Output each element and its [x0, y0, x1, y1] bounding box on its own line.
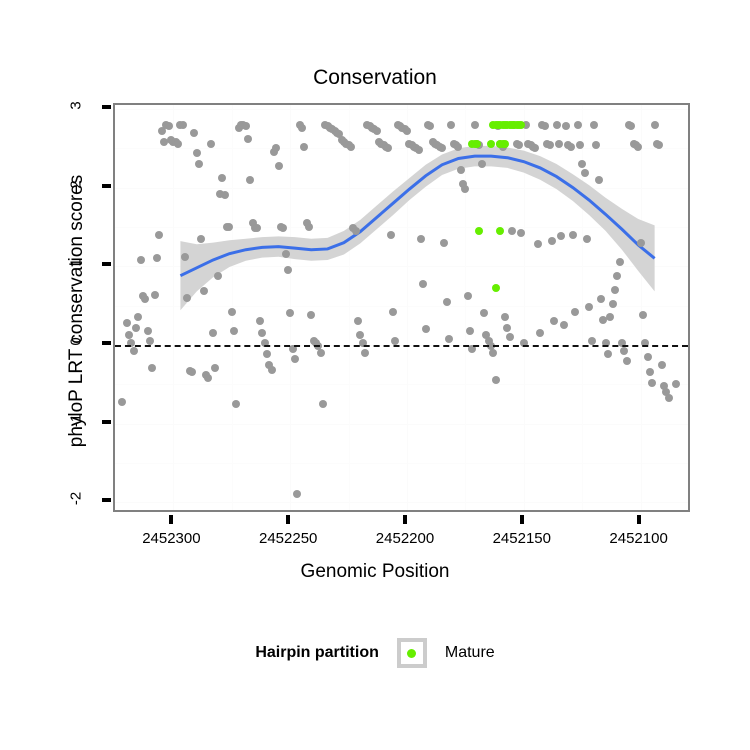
scatter-point-other: [672, 380, 680, 388]
scatter-point-other: [634, 143, 642, 151]
scatter-point-other: [648, 379, 656, 387]
scatter-point-other: [190, 129, 198, 137]
scatter-point-other: [574, 121, 582, 129]
y-tick-mark: [102, 105, 111, 109]
y-tick-label: 3: [68, 85, 85, 125]
scatter-point-other: [478, 160, 486, 168]
scatter-point-other: [130, 347, 138, 355]
scatter-point-other: [298, 124, 306, 132]
scatter-point-other: [609, 300, 617, 308]
scatter-point-other: [403, 127, 411, 135]
scatter-point-other: [373, 127, 381, 135]
x-tick-mark: [169, 515, 173, 524]
scatter-point-other: [419, 280, 427, 288]
legend: Hairpin partition Mature: [0, 638, 750, 668]
scatter-point-other: [457, 166, 465, 174]
x-tick-mark: [403, 515, 407, 524]
scatter-point-other: [534, 240, 542, 248]
scatter-point-other: [361, 349, 369, 357]
x-tick-mark: [520, 515, 524, 524]
scatter-point-other: [581, 169, 589, 177]
x-axis-title: Genomic Position: [0, 561, 750, 583]
scatter-point-other: [571, 308, 579, 316]
scatter-point-mature: [473, 140, 481, 148]
scatter-point-other: [300, 143, 308, 151]
scatter-point-other: [347, 143, 355, 151]
scatter-point-other: [639, 311, 647, 319]
y-tick-mark: [102, 184, 111, 188]
scatter-point-other: [637, 239, 645, 247]
scatter-point-other: [282, 250, 290, 258]
scatter-point-other: [623, 357, 631, 365]
scatter-point-other: [123, 319, 131, 327]
scatter-point-other: [207, 140, 215, 148]
scatter-point-other: [464, 292, 472, 300]
scatter-point-other: [193, 149, 201, 157]
scatter-point-other: [576, 141, 584, 149]
scatter-point-other: [665, 394, 673, 402]
scatter-point-other: [137, 256, 145, 264]
scatter-point-mature: [492, 284, 500, 292]
legend-key-mature[interactable]: [397, 638, 427, 668]
x-tick-mark: [286, 515, 290, 524]
scatter-point-other: [132, 324, 140, 332]
x-tick-label: 2452100: [584, 530, 694, 547]
scatter-point-other: [651, 121, 659, 129]
x-tick-label: 2452300: [116, 530, 226, 547]
scatter-point-other: [548, 237, 556, 245]
plot-panel: [113, 103, 690, 512]
scatter-point-other: [305, 223, 313, 231]
scatter-point-other: [165, 122, 173, 130]
conservation-chart-figure: Conservation phyloP LRT conservation sco…: [0, 0, 750, 750]
chart-title: Conservation: [0, 66, 750, 90]
scatter-point-other: [508, 227, 516, 235]
y-tick-mark: [102, 341, 111, 345]
scatter-point-other: [546, 141, 554, 149]
legend-title: Hairpin partition: [255, 644, 379, 662]
scatter-point-other: [146, 337, 154, 345]
x-tick-label: 2452250: [233, 530, 343, 547]
x-tick-label: 2452150: [467, 530, 577, 547]
scatter-point-other: [118, 398, 126, 406]
scatter-point-other: [445, 335, 453, 343]
scatter-point-other: [506, 333, 514, 341]
scatter-point-other: [590, 121, 598, 129]
scatter-point-other: [179, 121, 187, 129]
scatter-point-other: [553, 121, 561, 129]
scatter-point-other: [588, 337, 596, 345]
scatter-point-other: [560, 321, 568, 329]
y-tick-label: 1: [68, 243, 85, 283]
scatter-point-other: [555, 140, 563, 148]
scatter-point-other: [443, 298, 451, 306]
scatter-point-other: [352, 227, 360, 235]
y-tick-mark: [102, 498, 111, 502]
y-tick-mark: [102, 420, 111, 424]
x-tick-label: 2452200: [350, 530, 460, 547]
legend-dot-icon: [407, 649, 416, 658]
scatter-point-mature: [487, 140, 495, 148]
scatter-point-other: [181, 253, 189, 261]
scatter-point-other: [387, 231, 395, 239]
scatter-point-other: [466, 327, 474, 335]
y-tick-label: -1: [68, 400, 85, 440]
scatter-point-other: [644, 353, 652, 361]
scatter-point-mature: [501, 140, 509, 148]
scatter-point-other: [291, 355, 299, 363]
scatter-point-other: [242, 122, 250, 130]
scatter-point-other: [567, 143, 575, 151]
scatter-point-other: [214, 272, 222, 280]
scatter-point-other: [144, 327, 152, 335]
scatter-point-other: [389, 308, 397, 316]
scatter-point-other: [230, 327, 238, 335]
scatter-point-other: [417, 235, 425, 243]
scatter-point-other: [616, 258, 624, 266]
scatter-point-other: [471, 121, 479, 129]
y-tick-label: -2: [68, 479, 85, 519]
x-tick-mark: [637, 515, 641, 524]
scatter-point-other: [317, 349, 325, 357]
scatter-point-other: [275, 162, 283, 170]
scatter-point-other: [268, 366, 276, 374]
scatter-point-other: [569, 231, 577, 239]
y-tick-mark: [102, 262, 111, 266]
zero-reference-line: [115, 345, 688, 347]
y-tick-label: 0: [68, 321, 85, 361]
scatter-point-other: [595, 176, 603, 184]
scatter-point-other: [613, 272, 621, 280]
scatter-point-other: [658, 361, 666, 369]
scatter-point-other: [319, 400, 327, 408]
scatter-point-other: [415, 146, 423, 154]
legend-label-mature: Mature: [445, 644, 495, 662]
y-tick-label: 2: [68, 164, 85, 204]
scatter-point-other: [284, 266, 292, 274]
scatter-point-other: [228, 308, 236, 316]
scatter-point-other: [611, 286, 619, 294]
scatter-point-other: [422, 325, 430, 333]
scatter-point-other: [244, 135, 252, 143]
